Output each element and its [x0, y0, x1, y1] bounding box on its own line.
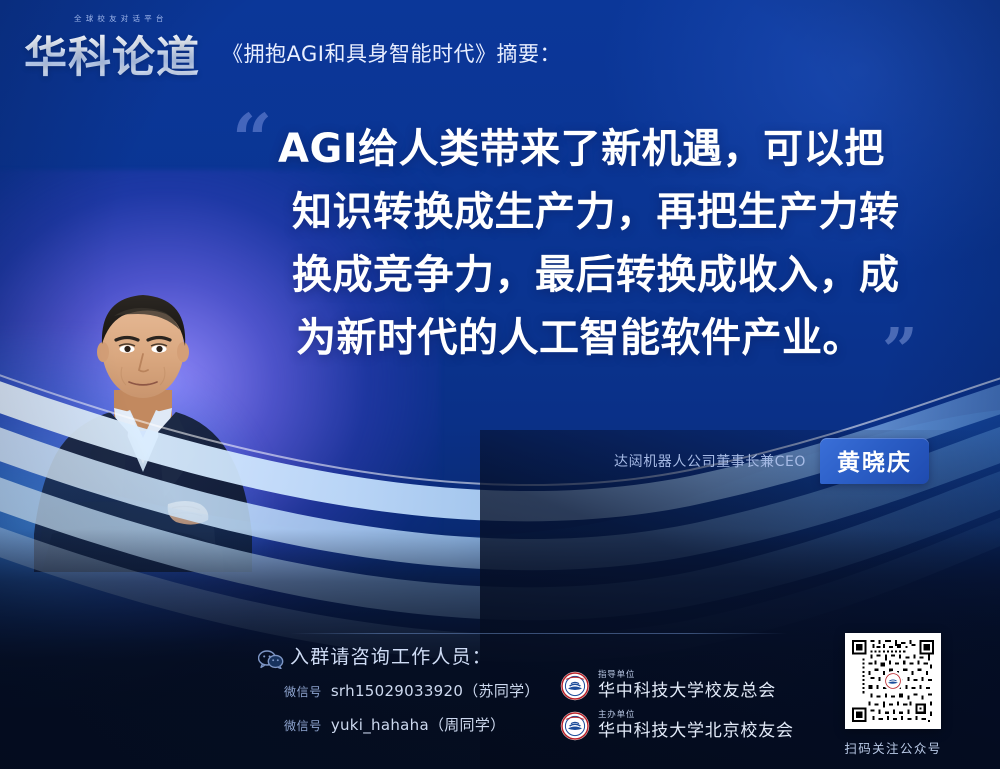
speaker-role: 达闼机器人公司董事长兼CEO [614, 451, 806, 471]
brand-logo: 全球校友对话平台 华科论道 [24, 13, 214, 75]
organization-row: 主办单位 华中科技大学北京校友会 [560, 710, 794, 742]
contact-label: 微信号 [284, 717, 322, 734]
qr-code-icon[interactable] [845, 633, 941, 729]
qr-code-block: 扫码关注公众号 [838, 633, 948, 757]
footer-divider [290, 633, 787, 634]
speaker-attribution: 达闼机器人公司董事长兼CEO 黄晓庆 [614, 442, 929, 480]
wechat-icon [258, 649, 284, 669]
poster-header: 全球校友对话平台 华科论道 《拥抱AGI和具身智能时代》摘要： [0, 0, 1000, 92]
contact-label: 微信号 [284, 683, 322, 700]
quote-line: 为新时代的人工智能软件产业。 [278, 307, 938, 370]
qr-center-logo-icon [883, 671, 903, 691]
hust-seal-icon [560, 671, 590, 701]
quote-line: 换成竞争力，最后转换成收入，成 [278, 244, 938, 307]
organization-row: 指导单位 华中科技大学校友总会 [560, 670, 776, 702]
contact-value[interactable]: srh15029033920（苏同学） [331, 680, 540, 701]
footer-heading: 入群请咨询工作人员： [290, 642, 492, 669]
quote-text: AGI给人类带来了新机遇，可以把 知识转换成生产力，再把生产力转 换成竞争力，最… [278, 118, 938, 370]
speaker-name-badge: 黄晓庆 [820, 438, 929, 484]
organization-name: 华中科技大学北京校友会 [598, 721, 794, 742]
organization-kicker: 指导单位 [598, 670, 776, 681]
quote-line: AGI给人类带来了新机遇，可以把 [278, 118, 938, 181]
brand-name: 华科论道 [24, 23, 200, 85]
quote-line: 知识转换成生产力，再把生产力转 [278, 181, 938, 244]
quote-close-mark: ” [882, 320, 918, 382]
organization-name: 华中科技大学校友总会 [598, 681, 776, 702]
hust-seal-icon [560, 711, 590, 741]
contact-value[interactable]: yuki_hahaha（周同学） [331, 714, 506, 735]
organization-kicker: 主办单位 [598, 710, 794, 721]
qr-caption: 扫码关注公众号 [844, 738, 941, 757]
poster-canvas: 全球校友对话平台 华科论道 《拥抱AGI和具身智能时代》摘要： “ AGI给人类… [0, 0, 1000, 769]
page-title: 《拥抱AGI和具身智能时代》摘要： [222, 38, 561, 68]
contact-row: 微信号 srh15029033920（苏同学） [284, 680, 540, 701]
contact-row: 微信号 yuki_hahaha（周同学） [284, 714, 505, 735]
quote-open-mark: “ [232, 105, 272, 175]
